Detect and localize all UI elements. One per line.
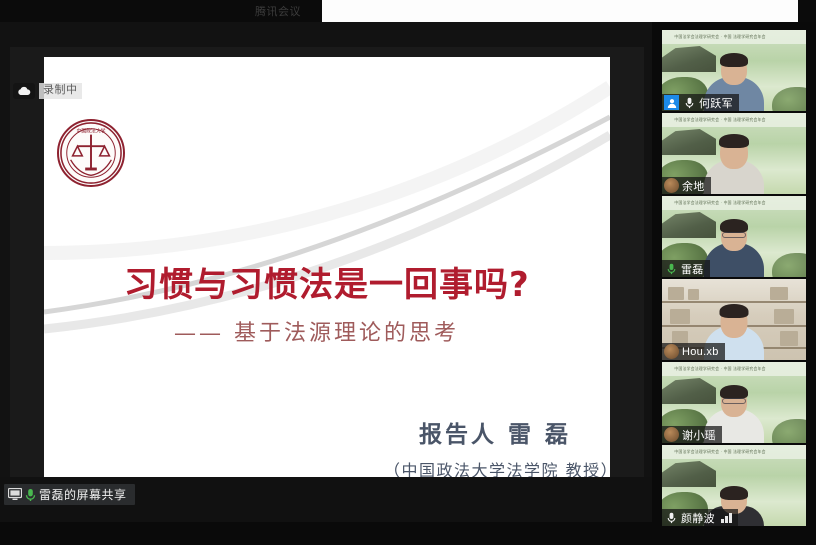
virtual-background-banner-text: 中国法学会法理学研究会 · 中国 法理学研究会年会: [674, 366, 765, 372]
participant-name: Hou.xb: [682, 346, 719, 358]
microphone-icon: [682, 95, 696, 110]
virtual-background-banner: 中国法学会法理学研究会 · 中国 法理学研究会年会: [662, 30, 806, 44]
window-titlebar: 腾讯会议: [0, 0, 816, 22]
shared-content-area: 中国政法大学 习惯与习惯法是一回事吗? —— 基于法源理论的思考 报告人 雷 磊…: [10, 47, 644, 497]
virtual-background-banner: 中国法学会法理学研究会 · 中国 法理学研究会年会: [662, 445, 806, 459]
participant-name-badge: Hou.xb: [662, 343, 725, 360]
titlebar-right-strip: [798, 0, 816, 22]
avatar: [664, 178, 679, 193]
bookshelf-item: [688, 289, 699, 300]
slide-presenter: 报告人 雷 磊: [419, 415, 571, 449]
participant-name-badge: 谢小瑶: [662, 426, 722, 443]
participant-video-person: [702, 134, 766, 194]
shared-screen-stage[interactable]: 中国政法大学 习惯与习惯法是一回事吗? —— 基于法源理论的思考 报告人 雷 磊…: [0, 22, 652, 522]
virtual-background-banner-text: 中国法学会法理学研究会 · 中国 法理学研究会年会: [674, 117, 765, 123]
slide-title: 习惯与习惯法是一回事吗?: [124, 257, 530, 306]
host-icon: [664, 95, 679, 110]
participant-name-badge: 雷磊: [662, 260, 710, 277]
person-hair: [720, 53, 748, 67]
avatar: [664, 344, 679, 359]
participant-name-badge: 余地: [662, 177, 711, 194]
university-emblem-icon: 中国政法大学: [57, 119, 125, 187]
bookshelf-item: [770, 287, 788, 300]
monitor-icon: [8, 488, 22, 501]
virtual-background-banner: 中国法学会法理学研究会 · 中国 法理学研究会年会: [662, 362, 806, 376]
participant-tile[interactable]: 中国法学会法理学研究会 · 中国 法理学研究会年会 颜静波: [662, 445, 806, 526]
bottom-status-bar: 雷磊的屏幕共享: [0, 477, 652, 522]
virtual-background-banner-text: 中国法学会法理学研究会 · 中国 法理学研究会年会: [674, 449, 765, 455]
screen-share-indicator[interactable]: 雷磊的屏幕共享: [4, 484, 135, 505]
bookshelf-item: [668, 287, 684, 300]
bookshelf-item: [780, 331, 798, 346]
bookshelf-ledge: [662, 301, 806, 303]
participant-video-person: [703, 219, 765, 277]
participant-tile[interactable]: Hou.xb: [662, 279, 806, 360]
participant-tile[interactable]: 中国法学会法理学研究会 · 中国 法理学研究会年会 雷磊: [662, 196, 806, 277]
participant-name: 雷磊: [681, 261, 704, 277]
bookshelf-item: [670, 309, 690, 324]
participant-tile[interactable]: 中国法学会法理学研究会 · 中国 法理学研究会年会 谢小瑶: [662, 362, 806, 443]
network-signal-icon: [721, 512, 732, 523]
person-hair: [720, 486, 748, 500]
background-roof: [662, 461, 716, 487]
participant-name-badge: 颜静波: [662, 509, 738, 526]
background-bush-right: [772, 87, 806, 111]
tencent-meeting-window: 腾讯会议: [0, 0, 816, 545]
screen-share-label: 雷磊的屏幕共享: [39, 486, 127, 503]
background-bush-right: [772, 419, 806, 443]
bookshelf-item: [774, 309, 794, 324]
recording-label: 录制中: [39, 83, 82, 99]
slide-subtitle: —— 基于法源理论的思考: [174, 315, 459, 347]
participant-name: 颜静波: [681, 510, 715, 526]
avatar: [664, 427, 679, 442]
virtual-background-banner: 中国法学会法理学研究会 · 中国 法理学研究会年会: [662, 113, 806, 127]
eyeglasses: [722, 398, 746, 404]
microphone-icon: [664, 510, 678, 525]
participant-tile[interactable]: 中国法学会法理学研究会 · 中国 法理学研究会年会 余地: [662, 113, 806, 194]
window-title: 腾讯会议: [255, 3, 301, 19]
participant-name: 余地: [682, 178, 705, 194]
person-hair: [720, 219, 748, 233]
microphone-icon: [664, 261, 678, 276]
svg-text:中国政法大学: 中国政法大学: [77, 128, 106, 135]
cloud-icon: [13, 83, 35, 99]
virtual-background-banner: 中国法学会法理学研究会 · 中国 法理学研究会年会: [662, 196, 806, 210]
eyeglasses: [722, 232, 746, 238]
participant-tile[interactable]: 中国法学会法理学研究会 · 中国 法理学研究会年会 何跃军: [662, 30, 806, 111]
background-bush-right: [772, 253, 806, 277]
participant-sidebar[interactable]: 中国法学会法理学研究会 · 中国 法理学研究会年会 何跃军: [652, 22, 816, 522]
participant-name-badge: 何跃军: [662, 94, 739, 111]
virtual-background-banner-text: 中国法学会法理学研究会 · 中国 法理学研究会年会: [674, 34, 765, 40]
presentation-slide: 中国政法大学 习惯与习惯法是一回事吗? —— 基于法源理论的思考 报告人 雷 磊…: [44, 57, 610, 490]
person-hair: [720, 385, 748, 399]
person-hair: [720, 304, 749, 318]
person-hair: [719, 134, 749, 148]
recording-indicator: 录制中: [13, 83, 82, 99]
participant-name: 谢小瑶: [682, 427, 716, 443]
microphone-icon: [25, 488, 36, 502]
participant-name: 何跃军: [699, 95, 733, 111]
virtual-background-banner-text: 中国法学会法理学研究会 · 中国 法理学研究会年会: [674, 200, 765, 206]
